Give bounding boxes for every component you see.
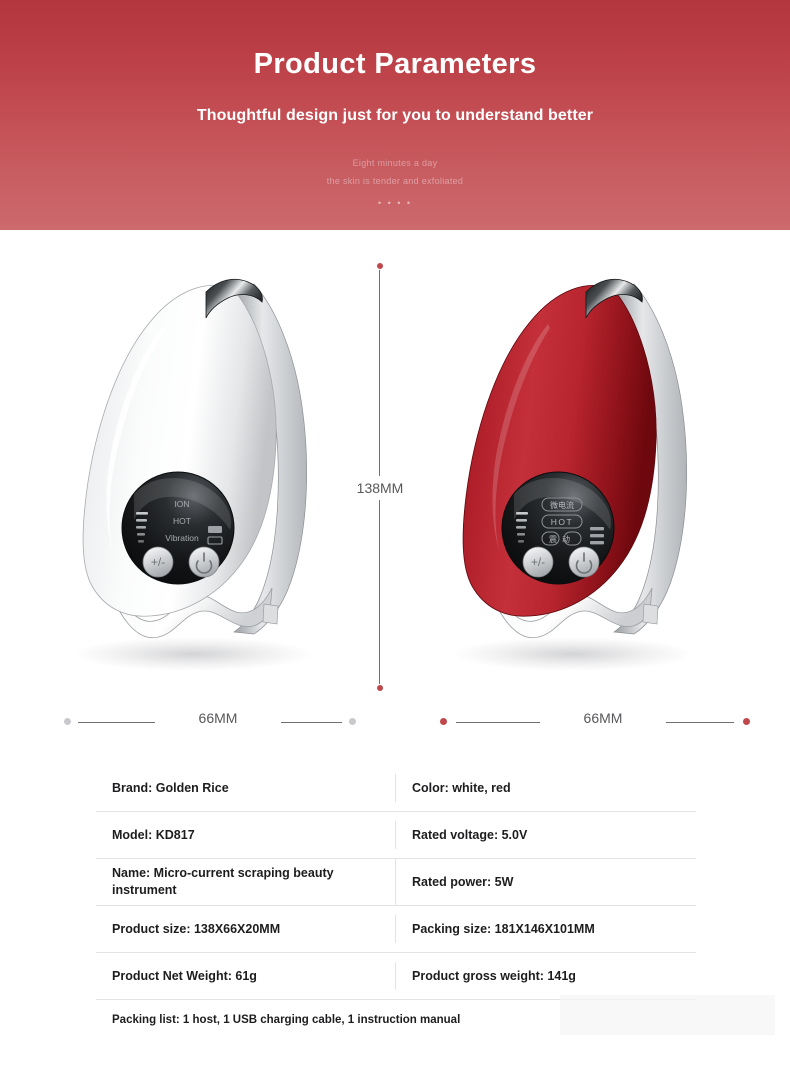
height-dimension-label: 138MM xyxy=(340,476,420,500)
width-dim-dot-left xyxy=(64,718,71,725)
width-dim-dot-right xyxy=(743,718,750,725)
spec-color: Color: white, red xyxy=(396,774,696,803)
product-image-white: ION HOT Vibration +/- xyxy=(58,250,358,680)
header-tagline-line2: the skin is tender and exfoliated xyxy=(0,176,790,186)
control-panel-white: ION HOT Vibration +/- xyxy=(122,472,234,584)
width-dimension-label-white: 66MM xyxy=(155,710,281,726)
spec-gross-weight: Product gross weight: 141g xyxy=(396,962,696,991)
table-row: Name: Micro-current scraping beauty inst… xyxy=(96,859,696,906)
table-row: Product size: 138X66X20MM Packing size: … xyxy=(96,906,696,953)
panel-label-ion: ION xyxy=(174,499,189,509)
table-row: Brand: Golden Rice Color: white, red xyxy=(96,765,696,812)
spec-brand: Brand: Golden Rice xyxy=(96,774,396,803)
panel-power-button xyxy=(569,547,599,577)
spec-rated-voltage: Rated voltage: 5.0V xyxy=(396,821,696,850)
device-shadow xyxy=(73,637,313,671)
spec-name: Name: Micro-current scraping beauty inst… xyxy=(96,859,396,905)
width-dimension-label-red: 66MM xyxy=(540,710,666,726)
spec-packing-list: Packing list: 1 host, 1 USB charging cab… xyxy=(96,1000,696,1026)
panel-power-button xyxy=(189,547,219,577)
specification-table: Brand: Golden Rice Color: white, red Mod… xyxy=(96,765,696,1026)
width-dim-dot-right xyxy=(349,718,356,725)
panel-label-hot: HOT xyxy=(173,516,191,526)
table-row: Model: KD817 Rated voltage: 5.0V xyxy=(96,812,696,859)
control-panel-red: 微电流 HOT 震动 +/- xyxy=(502,472,614,584)
product-parameters-page: Product Parameters Thoughtful design jus… xyxy=(0,0,790,1072)
panel-label-vibration: Vibration xyxy=(165,533,199,543)
width-dim-dot-left xyxy=(440,718,447,725)
product-image-red: 微电流 HOT 震动 +/- xyxy=(438,250,738,680)
header-dot-separator: • • • • xyxy=(0,198,790,208)
page-header: Product Parameters Thoughtful design jus… xyxy=(0,0,790,230)
device-charging-port xyxy=(263,604,278,624)
spec-model: Model: KD817 xyxy=(96,821,396,850)
panel-mode-button: +/- xyxy=(143,547,173,577)
spec-net-weight: Product Net Weight: 61g xyxy=(96,962,396,991)
height-dim-dot-top xyxy=(377,263,383,269)
panel-label-vibration: 震动 xyxy=(549,534,575,544)
panel-mode-button: +/- xyxy=(523,547,553,577)
spec-packing-size: Packing size: 181X146X101MM xyxy=(396,915,696,944)
height-dim-dot-bottom xyxy=(377,685,383,691)
panel-battery-indicators xyxy=(590,527,604,544)
device-charging-port xyxy=(643,604,658,624)
spec-rated-power: Rated power: 5W xyxy=(396,868,696,897)
spec-product-size: Product size: 138X66X20MM xyxy=(96,915,396,944)
panel-label-microcurrent: 微电流 xyxy=(550,500,574,510)
plus-minus-icon: +/- xyxy=(531,555,545,569)
plus-minus-icon: +/- xyxy=(151,555,165,569)
header-tagline-line1: Eight minutes a day xyxy=(0,158,790,168)
panel-label-hot: HOT xyxy=(551,517,573,527)
device-shadow xyxy=(453,637,693,671)
page-title: Product Parameters xyxy=(0,48,790,81)
table-row: Product Net Weight: 61g Product gross we… xyxy=(96,953,696,1000)
page-subtitle: Thoughtful design just for you to unders… xyxy=(0,107,790,125)
